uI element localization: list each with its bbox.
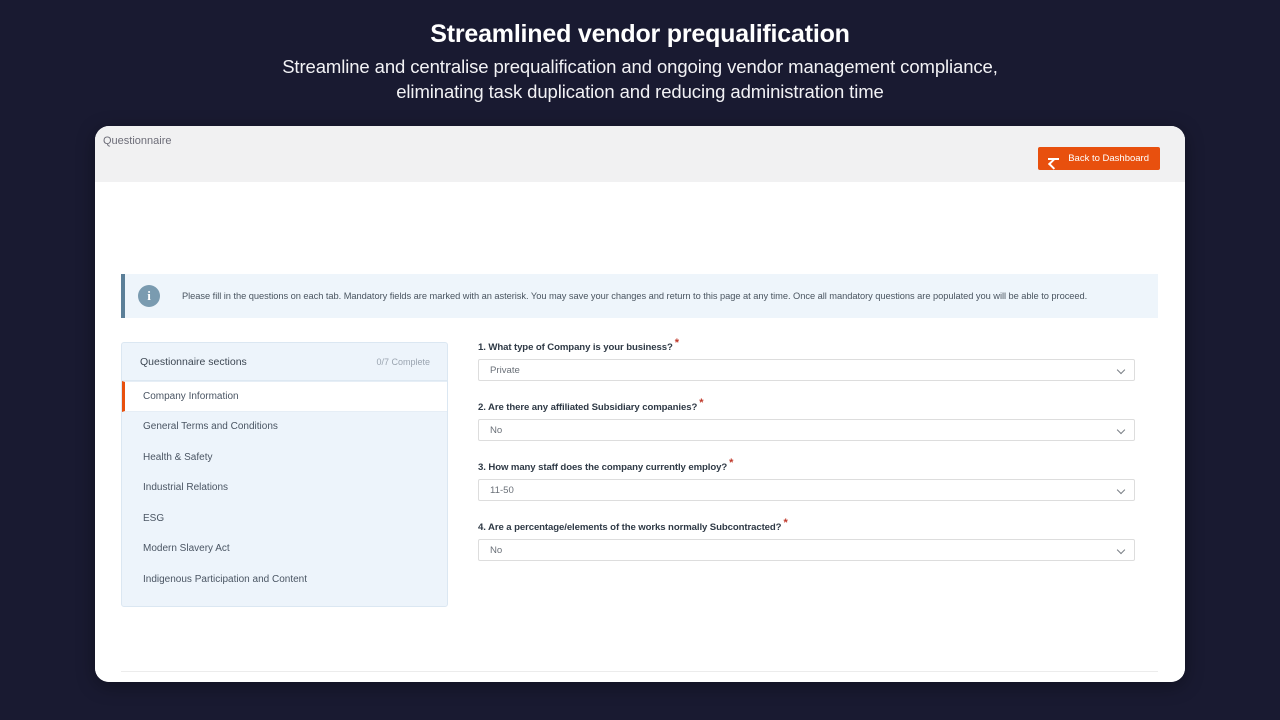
back-to-dashboard-button[interactable]: Back to Dashboard xyxy=(1038,147,1160,170)
sidebar-item-general-terms-and-conditions[interactable]: General Terms and Conditions xyxy=(122,412,447,443)
required-asterisk-icon: * xyxy=(783,517,787,529)
hero-subtitle-line-1: Streamline and centralise prequalificati… xyxy=(0,54,1280,79)
questions-form: 1. What type of Company is your business… xyxy=(478,342,1135,582)
sidebar-item-esg[interactable]: ESG xyxy=(122,503,447,534)
question-4-select[interactable]: No xyxy=(478,539,1135,561)
sections-header: Questionnaire sections 0/7 Complete xyxy=(122,343,447,381)
required-asterisk-icon: * xyxy=(675,337,679,349)
question-2-value: No xyxy=(479,425,502,436)
sections-title: Questionnaire sections xyxy=(140,356,247,368)
sidebar-item-modern-slavery-act[interactable]: Modern Slavery Act xyxy=(122,534,447,565)
required-asterisk-icon: * xyxy=(699,397,703,409)
sidebar-item-label: Indigenous Participation and Content xyxy=(143,574,307,585)
question-2-label: 2. Are there any affiliated Subsidiary c… xyxy=(478,402,1135,413)
sidebar-item-label: Company Information xyxy=(143,391,239,402)
sidebar-item-label: ESG xyxy=(143,513,164,524)
question-2-select[interactable]: No xyxy=(478,419,1135,441)
question-3-text: 3. How many staff does the company curre… xyxy=(478,462,727,473)
chevron-down-icon xyxy=(1118,427,1125,434)
chevron-down-icon xyxy=(1118,547,1125,554)
question-1: 1. What type of Company is your business… xyxy=(478,342,1135,381)
arrow-left-icon xyxy=(1048,154,1059,163)
sidebar-item-label: Modern Slavery Act xyxy=(143,543,230,554)
question-3-value: 11-50 xyxy=(479,485,514,496)
sidebar-item-label: General Terms and Conditions xyxy=(143,421,278,432)
sidebar-item-indigenous-participation-and-content[interactable]: Indigenous Participation and Content xyxy=(122,564,447,595)
question-4-label: 4. Are a percentage/elements of the work… xyxy=(478,522,1135,533)
question-1-text: 1. What type of Company is your business… xyxy=(478,342,673,353)
sidebar-item-industrial-relations[interactable]: Industrial Relations xyxy=(122,473,447,504)
required-asterisk-icon: * xyxy=(729,457,733,469)
info-banner-text: Please fill in the questions on each tab… xyxy=(182,291,1087,301)
breadcrumb[interactable]: Questionnaire xyxy=(103,135,172,147)
app-body: i Please fill in the questions on each t… xyxy=(95,182,1185,682)
sections-progress-badge: 0/7 Complete xyxy=(376,357,430,367)
question-1-label: 1. What type of Company is your business… xyxy=(478,342,1135,353)
question-3-label: 3. How many staff does the company curre… xyxy=(478,462,1135,473)
question-2-text: 2. Are there any affiliated Subsidiary c… xyxy=(478,402,697,413)
question-3-select[interactable]: 11-50 xyxy=(478,479,1135,501)
footer-divider xyxy=(121,671,1158,672)
question-2: 2. Are there any affiliated Subsidiary c… xyxy=(478,402,1135,441)
question-4: 4. Are a percentage/elements of the work… xyxy=(478,522,1135,561)
question-1-select[interactable]: Private xyxy=(478,359,1135,381)
question-4-value: No xyxy=(479,545,502,556)
app-window: Questionnaire Back to Dashboard i Please… xyxy=(95,126,1185,682)
sidebar-item-label: Industrial Relations xyxy=(143,482,228,493)
question-3: 3. How many staff does the company curre… xyxy=(478,462,1135,501)
sidebar-item-health-and-safety[interactable]: Health & Safety xyxy=(122,442,447,473)
sections-list: Company Information General Terms and Co… xyxy=(122,381,447,606)
chevron-down-icon xyxy=(1118,487,1125,494)
hero-subtitle-line-2: eliminating task duplication and reducin… xyxy=(0,79,1280,104)
back-to-dashboard-label: Back to Dashboard xyxy=(1068,153,1149,164)
page-title: Streamlined vendor prequalification xyxy=(0,19,1280,49)
sidebar-item-company-information[interactable]: Company Information xyxy=(122,381,447,412)
questionnaire-sections-panel: Questionnaire sections 0/7 Complete Comp… xyxy=(121,342,448,607)
app-topbar: Questionnaire Back to Dashboard xyxy=(95,126,1185,182)
question-4-text: 4. Are a percentage/elements of the work… xyxy=(478,522,781,533)
info-icon: i xyxy=(138,285,160,307)
question-1-value: Private xyxy=(479,365,520,376)
chevron-down-icon xyxy=(1118,367,1125,374)
sidebar-item-label: Health & Safety xyxy=(143,452,212,463)
hero-header: Streamlined vendor prequalification Stre… xyxy=(0,0,1280,104)
info-banner: i Please fill in the questions on each t… xyxy=(121,274,1158,318)
